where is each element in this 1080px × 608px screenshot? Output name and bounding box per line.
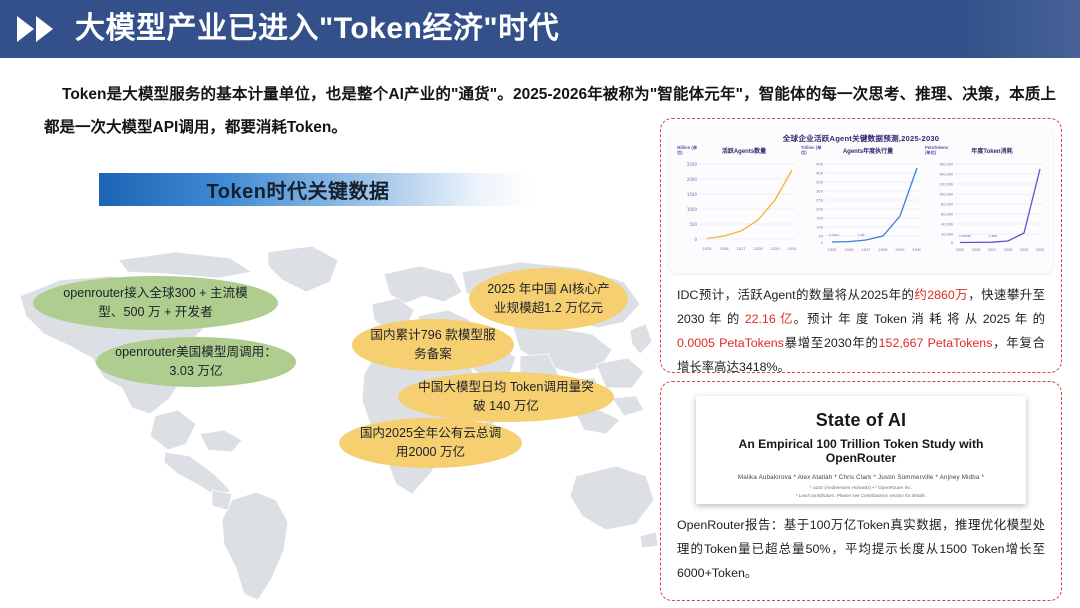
map-bubble-text: openrouter接入全球300 + 主流模型、500 万 + 开发者 xyxy=(51,284,260,322)
svg-text:300: 300 xyxy=(816,190,824,194)
svg-text:250: 250 xyxy=(816,199,824,203)
svg-text:2027: 2027 xyxy=(861,248,870,252)
map-bubble-domestic-model-filings: 国内累计796 款模型服务备案 xyxy=(352,319,514,371)
svg-text:140,000: 140,000 xyxy=(939,173,953,177)
map-bubble-china-ai-core-industry: 2025 年中国 AI核心产业规模超1.2 万亿元 xyxy=(469,268,628,330)
svg-text:350: 350 xyxy=(816,181,824,185)
note-seg: 暴增至2030年的 xyxy=(784,336,879,350)
chart-active-agents-count: Million (单位) 活跃Agents数量 2500 2000 1500 xyxy=(677,146,797,264)
svg-text:0: 0 xyxy=(821,241,824,245)
svg-text:1.68P: 1.68P xyxy=(989,234,997,238)
svg-text:160,000: 160,000 xyxy=(939,163,953,167)
chart-unit-label: Trillion (单位) xyxy=(801,145,823,155)
note-seg: IDC预计，活跃Agent的数量将从2025年的 xyxy=(677,288,914,302)
svg-text:150: 150 xyxy=(816,217,824,221)
svg-text:2029: 2029 xyxy=(770,247,780,251)
svg-text:2026: 2026 xyxy=(972,248,981,252)
agent-forecast-chart-card: 全球企业活跃Agent关键数据预测,2025-2030 Million (单位)… xyxy=(669,127,1053,273)
svg-text:0.0005: 0.0005 xyxy=(829,233,840,237)
openrouter-report-panel: State of AI An Empirical 100 Trillion To… xyxy=(660,381,1062,601)
svg-text:2030: 2030 xyxy=(1036,248,1045,252)
chart-suptitle: 全球企业活跃Agent关键数据预测,2025-2030 xyxy=(677,133,1045,144)
svg-text:1500: 1500 xyxy=(687,192,698,197)
map-bubble-text: 国内2025全年公有云总调用2000 万亿 xyxy=(357,424,504,462)
chart-annual-token-consumption: PetaTokens (单位) 年度Token消耗 160,000 140,00… xyxy=(925,146,1045,264)
svg-text:2027: 2027 xyxy=(736,247,745,251)
svg-text:100: 100 xyxy=(816,226,824,230)
map-bubble-openrouter-us-weekly: openrouter美国模型周调用：3.03 万亿 xyxy=(96,337,296,387)
svg-text:80,000: 80,000 xyxy=(941,203,953,207)
note-seg-highlight: 152,667 PetaTokens xyxy=(879,336,993,350)
svg-text:2000: 2000 xyxy=(687,177,698,182)
svg-text:20,000: 20,000 xyxy=(941,233,953,237)
svg-text:450: 450 xyxy=(816,163,824,167)
svg-text:1.68: 1.68 xyxy=(858,233,865,237)
note-seg: 。预计 年 度 Token 消 耗 将 从 2025 年 的 xyxy=(794,312,1045,326)
note-seg-highlight: 22.16 亿 xyxy=(745,312,794,326)
paper-subtitle: An Empirical 100 Trillion Token Study wi… xyxy=(706,437,1016,465)
paper-footnote: * Lead contributors. Please see Contribu… xyxy=(706,493,1016,498)
chart-plot-area: 160,000 140,000 120,000 100,000 80,000 6… xyxy=(925,156,1045,260)
svg-text:2025: 2025 xyxy=(702,247,711,251)
paper-title: State of AI xyxy=(706,410,1016,431)
svg-text:0: 0 xyxy=(951,241,953,245)
section-header-bar: Token时代关键数据 xyxy=(99,173,533,206)
idc-forecast-note: IDC预计，活跃Agent的数量将从2025年的约2860万，快速攀升至2030… xyxy=(669,273,1053,379)
svg-text:40,000: 40,000 xyxy=(941,223,953,227)
chart-unit-label: PetaTokens (单位) xyxy=(925,145,947,155)
chart-plot-area: 2500 2000 1500 1000 500 0 20252026 20272… xyxy=(677,156,797,260)
slide-root: 大模型产业已进入"Token经济"时代 Token是大模型服务的基本计量单位，也… xyxy=(0,0,1080,608)
svg-text:2028: 2028 xyxy=(1004,248,1013,252)
svg-text:2025: 2025 xyxy=(827,248,836,252)
map-bubble-public-cloud-total: 国内2025全年公有云总调用2000 万亿 xyxy=(339,418,522,468)
svg-text:2029: 2029 xyxy=(895,248,905,252)
svg-text:200: 200 xyxy=(816,208,824,212)
svg-text:60,000: 60,000 xyxy=(941,213,953,217)
svg-text:400: 400 xyxy=(816,172,824,176)
svg-text:2027: 2027 xyxy=(988,248,997,252)
idc-forecast-panel: 全球企业活跃Agent关键数据预测,2025-2030 Million (单位)… xyxy=(660,118,1062,373)
paper-authors: Malika Aubakirova * Alex Atallah * Chris… xyxy=(706,474,1016,481)
svg-text:500: 500 xyxy=(689,222,697,227)
svg-text:2030: 2030 xyxy=(787,247,797,251)
paper-preview-card: State of AI An Empirical 100 Trillion To… xyxy=(696,396,1026,504)
svg-text:0.0005P: 0.0005P xyxy=(959,234,971,238)
note-seg-highlight: 约2860万 xyxy=(914,288,968,302)
double-triangle-play-icon xyxy=(17,16,63,42)
svg-text:2500: 2500 xyxy=(687,162,698,167)
map-bubble-text: 中国大模型日均 Token调用量突破 140 万亿 xyxy=(416,378,596,416)
section-header-label: Token时代关键数据 xyxy=(207,175,390,204)
svg-text:2030: 2030 xyxy=(912,248,921,252)
svg-text:2029: 2029 xyxy=(1020,248,1029,252)
svg-text:100,000: 100,000 xyxy=(939,193,953,197)
svg-text:2025: 2025 xyxy=(956,248,965,252)
svg-text:2026: 2026 xyxy=(719,247,729,251)
map-bubble-text: openrouter美国模型周调用：3.03 万亿 xyxy=(114,343,278,381)
openrouter-report-note: OpenRouter报告：基于100万亿Token真实数据，推理优化模型处理的T… xyxy=(669,504,1053,585)
chart-unit-label: Million (单位) xyxy=(677,145,699,155)
map-bubble-openrouter-global: openrouter接入全球300 + 主流模型、500 万 + 开发者 xyxy=(33,276,278,330)
svg-text:0: 0 xyxy=(694,237,697,242)
slide-title-bar: 大模型产业已进入"Token经济"时代 xyxy=(0,0,1080,58)
chart-agents-annual-executions: Trillion (单位) Agents年度执行量 450 400 xyxy=(801,146,921,264)
map-bubble-text: 2025 年中国 AI核心产业规模超1.2 万亿元 xyxy=(487,280,610,318)
charts-row: Million (单位) 活跃Agents数量 2500 2000 1500 xyxy=(677,146,1045,264)
svg-text:50: 50 xyxy=(818,235,823,239)
svg-text:2026: 2026 xyxy=(844,248,854,252)
svg-text:2028: 2028 xyxy=(753,247,763,251)
note-seg-highlight: 0.0005 PetaTokens xyxy=(677,336,784,350)
page-title: 大模型产业已进入"Token经济"时代 xyxy=(75,14,559,44)
map-bubble-china-daily-token: 中国大模型日均 Token调用量突破 140 万亿 xyxy=(398,372,614,422)
paper-affiliations: * a16z (Andreessen Horowitz) • * OpenRou… xyxy=(706,485,1016,490)
map-bubble-text: 国内累计796 款模型服务备案 xyxy=(370,326,496,364)
svg-text:120,000: 120,000 xyxy=(939,183,953,187)
chart-plot-area: 450 400 350 300 250 200 150 100 50 0 xyxy=(801,156,921,260)
svg-text:2028: 2028 xyxy=(878,248,888,252)
svg-text:1000: 1000 xyxy=(687,207,698,212)
